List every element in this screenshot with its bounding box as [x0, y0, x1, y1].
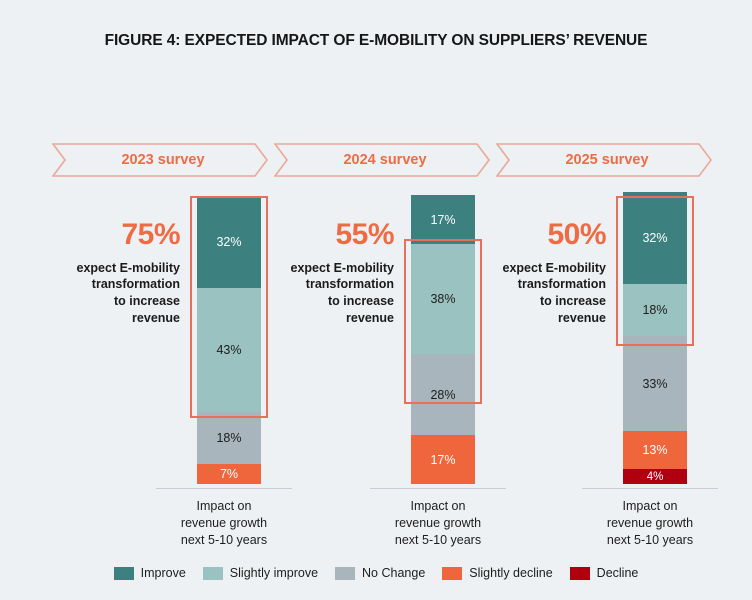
- bar-segment-slightly-improve: 43%: [197, 288, 261, 412]
- callout-percent: 50%: [478, 216, 606, 254]
- callout-line-4: revenue: [478, 310, 606, 327]
- bar-wrap-2024: 17% 38% 28% 17%: [404, 196, 468, 488]
- bar-segment-slightly-decline: 13%: [623, 431, 687, 469]
- bar-segment-value: 13%: [642, 443, 667, 457]
- survey-banner-label: 2024 survey: [337, 152, 426, 168]
- legend-swatch-icon: [570, 567, 590, 580]
- chart-legend: Improve Slightly improve No Change Sligh…: [0, 566, 752, 580]
- axis-caption-2024: Impact on revenue growth next 5-10 years: [366, 498, 510, 549]
- axis-caption-line-3: next 5-10 years: [152, 532, 296, 549]
- legend-item-improve[interactable]: Improve: [114, 566, 186, 580]
- bar-segment-value: 18%: [216, 431, 241, 445]
- axis-caption-line-1: Impact on: [152, 498, 296, 515]
- callout-line-3: to increase: [266, 293, 394, 310]
- bar-group-2024: 55% expect E-mobility transformation to …: [266, 196, 504, 496]
- legend-swatch-icon: [335, 567, 355, 580]
- callout-percent: 75%: [52, 216, 180, 254]
- legend-swatch-icon: [203, 567, 223, 580]
- bar-wrap-2023: 32% 43% 18% 7%: [190, 196, 254, 488]
- legend-swatch-icon: [114, 567, 134, 580]
- bar-group-2023: 75% expect E-mobility transformation to …: [52, 196, 290, 496]
- bar-segment-value: 32%: [642, 231, 667, 245]
- bar-segment-value: 28%: [430, 388, 455, 402]
- bar-segment-improve: 32%: [197, 196, 261, 288]
- callout-line-1: expect E-mobility: [266, 260, 394, 277]
- legend-item-slightly-decline[interactable]: Slightly decline: [442, 566, 552, 580]
- bar-segment-no-change: 33%: [623, 336, 687, 431]
- survey-banner-label: 2023 survey: [115, 152, 204, 168]
- legend-label: Improve: [141, 566, 186, 580]
- axis-caption-line-2: revenue growth: [366, 515, 510, 532]
- survey-banner-2024[interactable]: 2024 survey: [274, 143, 490, 177]
- bar-segment-improve: 32%: [623, 192, 687, 284]
- bar-segment-slightly-decline: 7%: [197, 464, 261, 484]
- axis-caption-line-1: Impact on: [366, 498, 510, 515]
- bar-wrap-2025: 32% 18% 33% 13% 4%: [616, 196, 680, 488]
- survey-banner-row: 2023 survey 2024 survey 2025 survey: [52, 143, 712, 177]
- bar-segment-slightly-improve: 18%: [623, 284, 687, 336]
- bar-segment-value: 33%: [642, 377, 667, 391]
- axis-caption-line-3: next 5-10 years: [578, 532, 722, 549]
- axis-caption-line-2: revenue growth: [152, 515, 296, 532]
- callout-line-2: transformation: [52, 276, 180, 293]
- callout-line-4: revenue: [266, 310, 394, 327]
- callout-line-3: to increase: [52, 293, 180, 310]
- stacked-bar-2024: 17% 38% 28% 17%: [411, 195, 475, 484]
- survey-banner-label: 2025 survey: [559, 152, 648, 168]
- axis-line-2025: [582, 488, 718, 489]
- axis-caption-line-3: next 5-10 years: [366, 532, 510, 549]
- bar-segment-value: 7%: [220, 467, 238, 481]
- axis-caption-2025: Impact on revenue growth next 5-10 years: [578, 498, 722, 549]
- callout-line-3: to increase: [478, 293, 606, 310]
- bar-segment-improve: 17%: [411, 195, 475, 244]
- bar-segment-no-change: 28%: [411, 354, 475, 435]
- bar-segment-slightly-decline: 17%: [411, 435, 475, 484]
- stacked-bar-2025: 32% 18% 33% 13% 4%: [623, 192, 687, 484]
- bar-segment-no-change: 18%: [197, 412, 261, 464]
- bar-segment-value: 32%: [216, 235, 241, 249]
- bar-segment-value: 38%: [430, 292, 455, 306]
- bar-segment-value: 17%: [430, 213, 455, 227]
- axis-caption-line-2: revenue growth: [578, 515, 722, 532]
- callout-2025: 50% expect E-mobility transformation to …: [478, 216, 606, 326]
- legend-label: Decline: [597, 566, 639, 580]
- callout-2024: 55% expect E-mobility transformation to …: [266, 216, 394, 326]
- bar-segment-value: 4%: [647, 471, 664, 483]
- survey-banner-2025[interactable]: 2025 survey: [496, 143, 712, 177]
- bar-segment-value: 18%: [642, 303, 667, 317]
- callout-2023: 75% expect E-mobility transformation to …: [52, 216, 180, 326]
- legend-label: No Change: [362, 566, 425, 580]
- bar-segment-slightly-improve: 38%: [411, 244, 475, 354]
- legend-item-decline[interactable]: Decline: [570, 566, 639, 580]
- callout-line-2: transformation: [266, 276, 394, 293]
- legend-item-slightly-improve[interactable]: Slightly improve: [203, 566, 318, 580]
- legend-swatch-icon: [442, 567, 462, 580]
- bar-segment-value: 43%: [216, 343, 241, 357]
- bar-group-2025: 50% expect E-mobility transformation to …: [478, 196, 718, 496]
- chart-area: 75% expect E-mobility transformation to …: [0, 196, 752, 496]
- callout-line-4: revenue: [52, 310, 180, 327]
- callout-percent: 55%: [266, 216, 394, 254]
- legend-label: Slightly improve: [230, 566, 318, 580]
- callout-line-1: expect E-mobility: [52, 260, 180, 277]
- legend-label: Slightly decline: [469, 566, 552, 580]
- bar-segment-value: 17%: [430, 453, 455, 467]
- callout-line-1: expect E-mobility: [478, 260, 606, 277]
- axis-caption-line-1: Impact on: [578, 498, 722, 515]
- callout-line-2: transformation: [478, 276, 606, 293]
- axis-caption-2023: Impact on revenue growth next 5-10 years: [152, 498, 296, 549]
- legend-item-no-change[interactable]: No Change: [335, 566, 425, 580]
- survey-banner-2023[interactable]: 2023 survey: [52, 143, 268, 177]
- stacked-bar-2023: 32% 43% 18% 7%: [197, 196, 261, 484]
- page-title: FIGURE 4: EXPECTED IMPACT OF E-MOBILITY …: [0, 32, 752, 50]
- bar-segment-decline: 4%: [623, 469, 687, 484]
